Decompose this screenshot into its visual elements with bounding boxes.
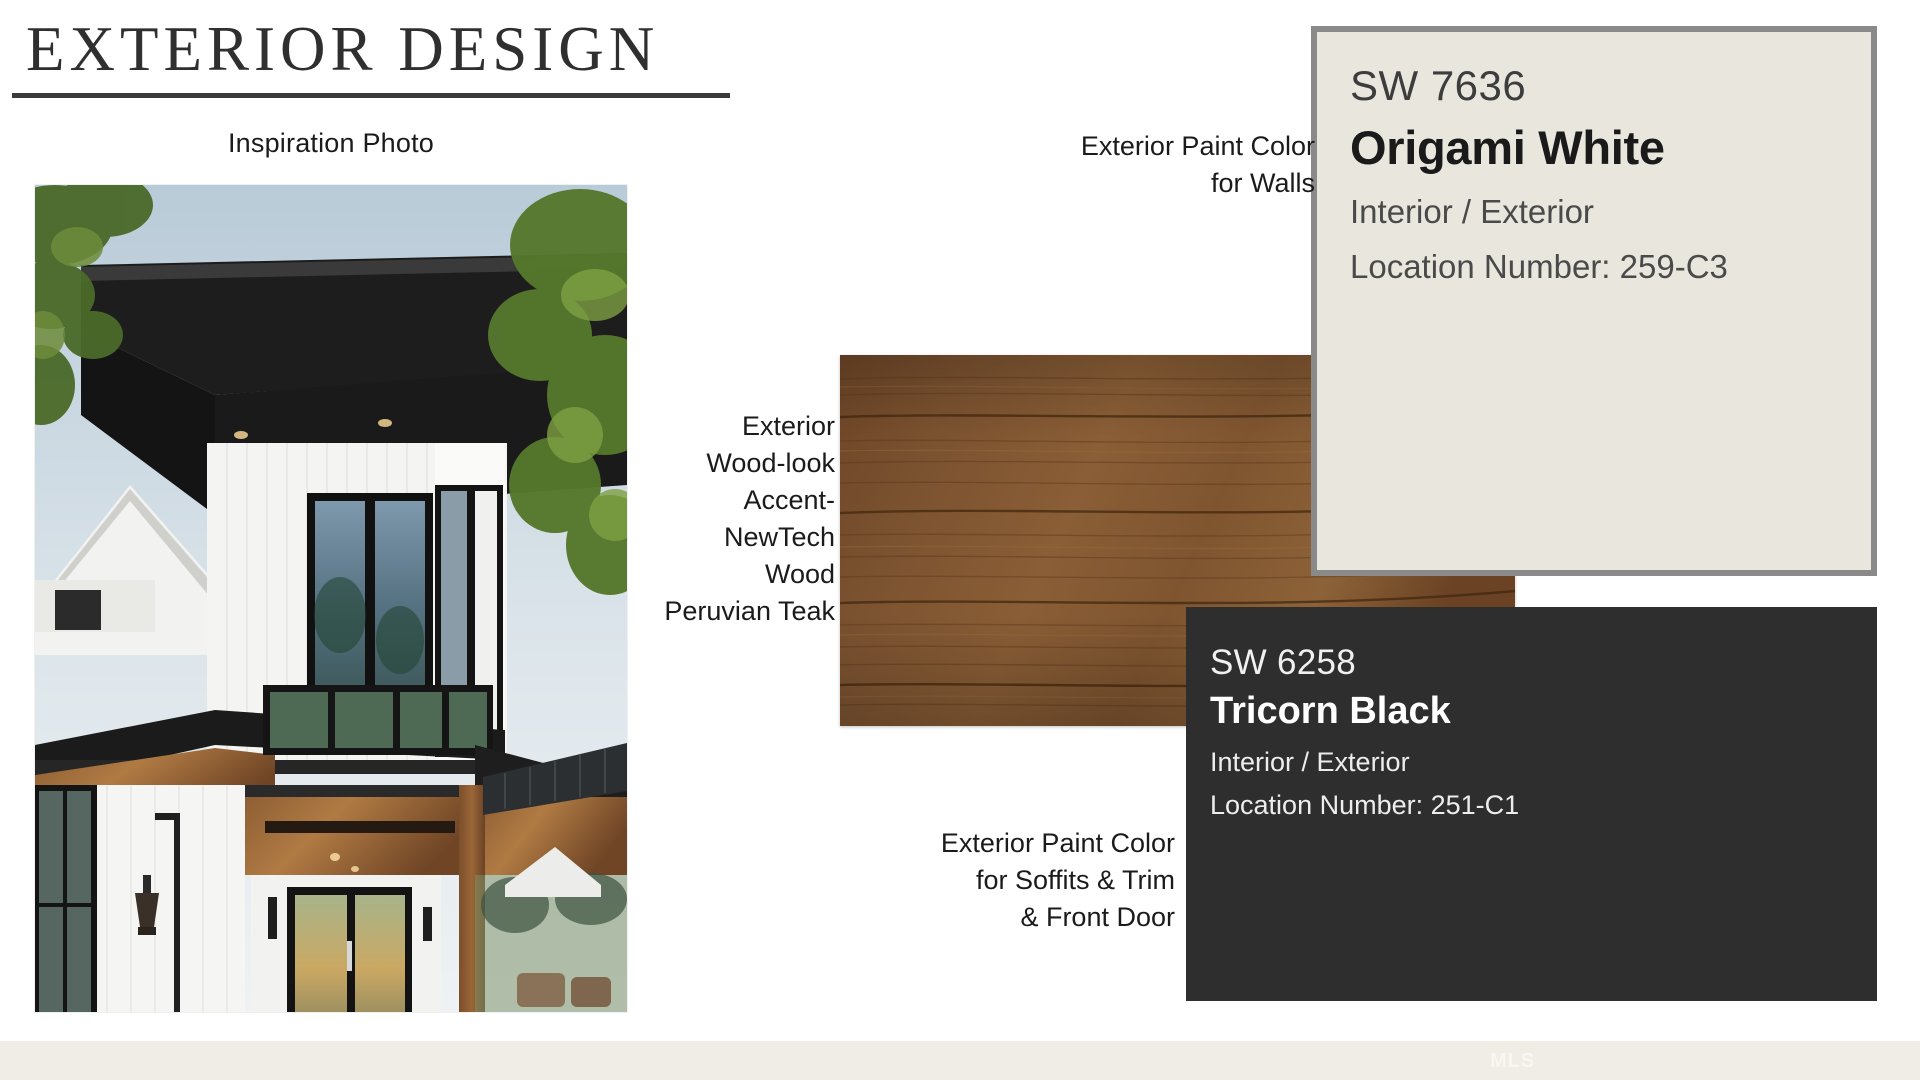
wood-label-line-2: Wood-look bbox=[600, 445, 835, 482]
walls-label-line-1: Exterior Paint Color bbox=[940, 128, 1315, 165]
design-board-slide: EXTERIOR DESIGN Inspiration Photo bbox=[0, 0, 1920, 1080]
paint-chip-use-dark: Interior / Exterior bbox=[1210, 742, 1877, 783]
paint-chip-code-dark: SW 6258 bbox=[1210, 641, 1877, 685]
page-title: EXTERIOR DESIGN bbox=[12, 18, 742, 81]
walls-paint-label: Exterior Paint Color for Walls bbox=[940, 128, 1315, 202]
trim-label-line-2: for Soffits & Trim bbox=[830, 862, 1175, 899]
title-block: EXTERIOR DESIGN bbox=[12, 18, 742, 98]
footer-mls-logo: MLS bbox=[1490, 1050, 1535, 1073]
paint-chip-name-white: Origami White bbox=[1350, 117, 1871, 178]
wood-label-line-3: Accent- bbox=[600, 482, 835, 519]
paint-chip-location-white: Location Number: 259-C3 bbox=[1350, 243, 1871, 291]
trim-label-line-1: Exterior Paint Color bbox=[830, 825, 1175, 862]
trim-paint-label: Exterior Paint Color for Soffits & Trim … bbox=[830, 825, 1175, 936]
paint-chip-origami-white: SW 7636 Origami White Interior / Exterio… bbox=[1311, 26, 1877, 576]
trim-label-line-3: & Front Door bbox=[830, 899, 1175, 936]
paint-chip-code-white: SW 7636 bbox=[1350, 60, 1871, 113]
inspiration-photo bbox=[35, 185, 627, 1012]
paint-chip-tricorn-black: SW 6258 Tricorn Black Interior / Exterio… bbox=[1186, 607, 1877, 1001]
footer-bar bbox=[0, 1041, 1920, 1080]
inspiration-photo-caption: Inspiration Photo bbox=[35, 128, 627, 159]
paint-chip-name-dark: Tricorn Black bbox=[1210, 687, 1877, 736]
wood-label-line-1: Exterior bbox=[600, 408, 835, 445]
wood-label-line-4: NewTech bbox=[600, 519, 835, 556]
title-underline-rule bbox=[12, 93, 730, 98]
paint-chip-use-white: Interior / Exterior bbox=[1350, 188, 1871, 236]
wood-accent-label: Exterior Wood-look Accent- NewTech Wood … bbox=[600, 408, 835, 630]
wood-label-line-5: Wood bbox=[600, 556, 835, 593]
house-exterior-illustration bbox=[35, 185, 627, 1012]
walls-label-line-2: for Walls bbox=[940, 165, 1315, 202]
paint-chip-location-dark: Location Number: 251-C1 bbox=[1210, 785, 1877, 826]
wood-label-line-6: Peruvian Teak bbox=[600, 593, 835, 630]
